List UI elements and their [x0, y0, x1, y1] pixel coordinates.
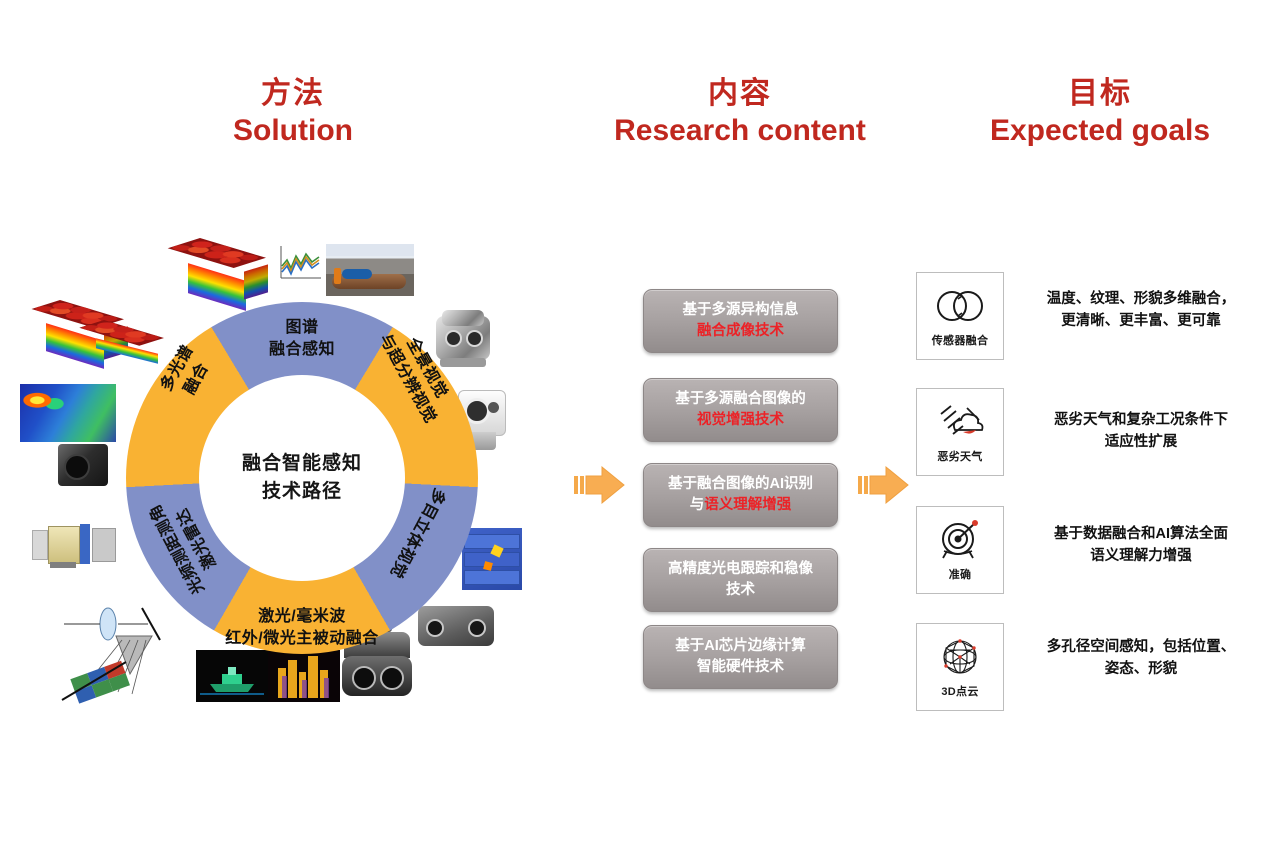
research-box-3[interactable]: 基于融合图像的AI识别 与语义理解增强 — [643, 463, 838, 527]
point-cloud-ship-svg — [196, 650, 268, 702]
thermal-image — [20, 384, 116, 442]
donut-segment-label-laser-mmwave[interactable]: 激光/毫米波 红外/微光主被动融合 — [212, 606, 392, 649]
column-header-solution-en: Solution — [168, 113, 418, 148]
point-cloud-icon — [933, 633, 987, 681]
research-box-4-line1: 高精度光电跟踪和稳像 — [668, 559, 813, 580]
column-header-solution-cn: 方法 — [168, 76, 418, 111]
arrow-right-icon-2 — [856, 462, 910, 508]
column-header-content: 内容 Research content — [610, 76, 870, 149]
research-box-5[interactable]: 基于AI芯片边缘计算 智能硬件技术 — [643, 625, 838, 689]
goal-text-accuracy: 基于数据融合和AI算法全面 语义理解力增强 — [1022, 524, 1260, 568]
research-box-3-line1: 基于融合图像的AI识别 — [668, 474, 813, 495]
goal-text-point-cloud: 多孔径空间感知，包括位置、 姿态、形貌 — [1022, 637, 1260, 681]
goal-card-accuracy[interactable]: 准确 — [916, 506, 1004, 594]
column-header-content-en: Research content — [610, 113, 870, 148]
goal-card-bad-weather[interactable]: 恶劣天气 — [916, 388, 1004, 476]
lidar-point-cloud-ship — [196, 650, 268, 702]
research-box-5-line2: 智能硬件技术 — [675, 657, 806, 678]
research-box-1-line2: 融合成像技术 — [683, 321, 799, 342]
column-header-solution: 方法 Solution — [168, 76, 418, 149]
pipeline-inspection-photo — [326, 244, 414, 296]
column-header-goals-en: Expected goals — [950, 113, 1250, 148]
goal-card-sensor-fusion[interactable]: 传感器融合 — [916, 272, 1004, 360]
blue-structure-render — [462, 528, 522, 590]
lidar-point-cloud-city — [268, 650, 340, 702]
goal-card-point-cloud-caption: 3D点云 — [941, 683, 978, 699]
hyperspectral-slab — [94, 320, 174, 358]
research-box-2-line2: 视觉增强技术 — [675, 410, 806, 431]
goal-card-sensor-fusion-caption: 传感器融合 — [932, 332, 989, 348]
column-header-goals-cn: 目标 — [950, 76, 1250, 111]
diagram-canvas: 方法 Solution 内容 Research content 目标 Expec… — [0, 0, 1268, 866]
spectrum-plot-svg — [272, 242, 324, 288]
spectrum-plot — [272, 242, 324, 288]
goal-card-bad-weather-caption: 恶劣天气 — [937, 448, 982, 464]
lidar-sensor — [32, 522, 118, 568]
research-box-3-line2-prefix: 与 — [690, 497, 705, 513]
bad-weather-icon — [933, 398, 987, 446]
arrow-solution-to-content — [572, 462, 626, 508]
goal-card-point-cloud[interactable]: 3D点云 — [916, 623, 1004, 711]
research-box-4-line2: 技术 — [668, 580, 813, 601]
optics-diagram-svg — [56, 596, 188, 706]
arrow-content-to-goals — [856, 462, 910, 508]
goal-card-accuracy-caption: 准确 — [949, 566, 972, 582]
column-header-goals: 目标 Expected goals — [950, 76, 1250, 149]
research-box-5-line1: 基于AI芯片边缘计算 — [675, 636, 806, 657]
research-box-1-line1: 基于多源异构信息 — [683, 300, 799, 321]
research-box-1[interactable]: 基于多源异构信息 融合成像技术 — [643, 289, 838, 353]
stereo-camera-bar — [418, 606, 494, 646]
research-box-2[interactable]: 基于多源融合图像的 视觉增强技术 — [643, 378, 838, 442]
goal-text-bad-weather: 恶劣天气和复杂工况条件下 适应性扩展 — [1022, 410, 1260, 454]
research-box-4[interactable]: 高精度光电跟踪和稳像 技术 — [643, 548, 838, 612]
target-accuracy-icon — [933, 516, 987, 564]
industrial-camera — [58, 444, 108, 486]
optics-diagram — [56, 596, 188, 706]
hyperspectral-cube-top — [188, 238, 268, 304]
research-box-3-line2-highlight: 语义理解增强 — [704, 497, 791, 513]
sensor-fusion-icon — [933, 282, 987, 330]
donut-segment-label-tupu[interactable]: 图谱 融合感知 — [232, 317, 372, 360]
goal-text-sensor-fusion: 温度、纹理、形貌多维融合， 更清晰、更丰富、更可靠 — [1022, 289, 1260, 333]
column-header-content-cn: 内容 — [610, 76, 870, 111]
research-box-2-line1: 基于多源融合图像的 — [675, 389, 806, 410]
point-cloud-city-svg — [268, 650, 340, 702]
multi-camera-rig — [432, 310, 494, 370]
arrow-right-icon — [572, 462, 626, 508]
